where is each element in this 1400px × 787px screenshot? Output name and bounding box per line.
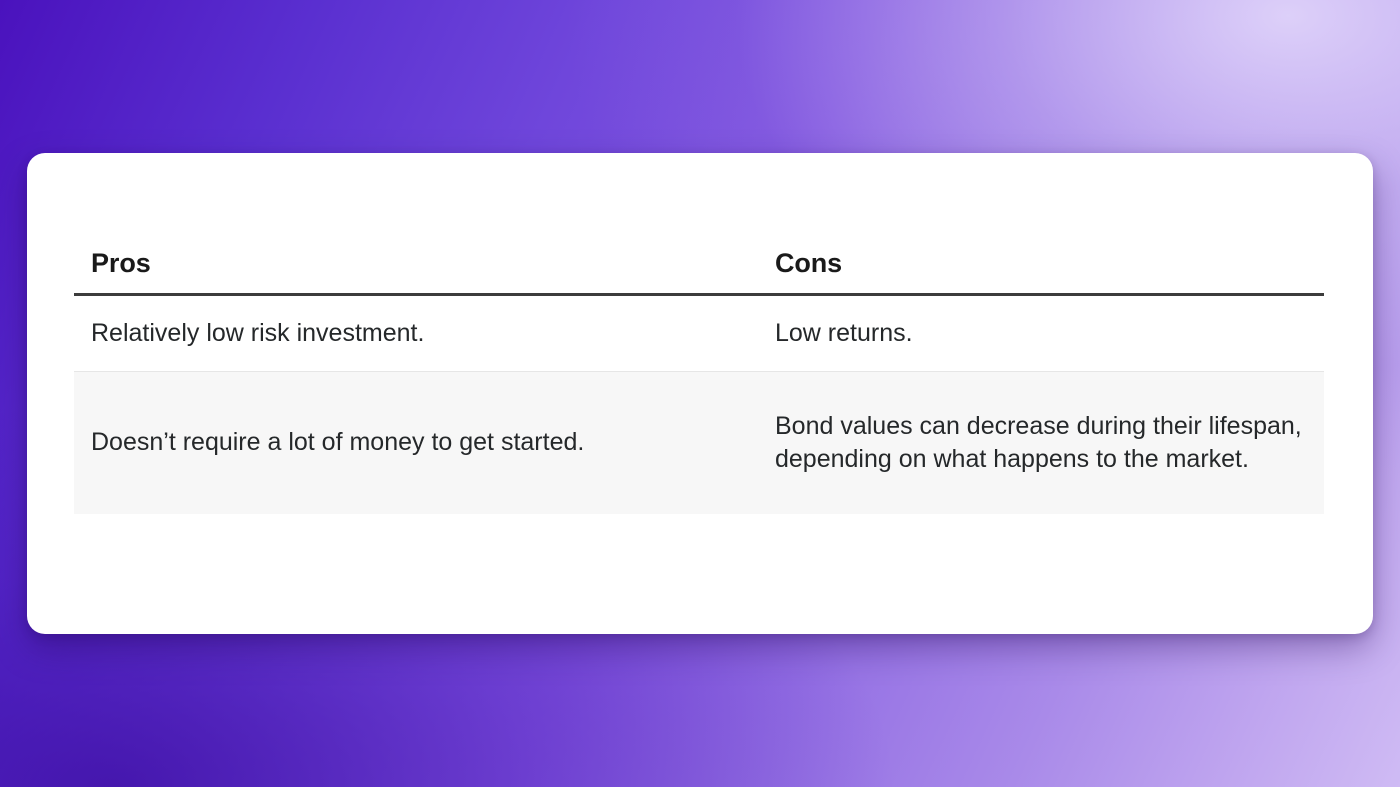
table-body: Relatively low risk investment. Low retu… (74, 294, 1324, 514)
table-row: Doesn’t require a lot of money to get st… (74, 371, 1324, 514)
column-header-pros-label: Pros (74, 248, 758, 279)
column-header-pros: Pros (74, 153, 758, 294)
table-container: Pros Cons Relatively low risk investment… (74, 153, 1324, 514)
cell-pros-2: Doesn’t require a lot of money to get st… (74, 371, 758, 514)
column-header-cons: Cons (758, 153, 1324, 294)
column-header-cons-label: Cons (758, 248, 1324, 279)
table-card: Pros Cons Relatively low risk investment… (27, 153, 1373, 634)
cell-pros-1: Relatively low risk investment. (74, 294, 758, 371)
cell-cons-1: Low returns. (758, 294, 1324, 371)
cell-cons-2: Bond values can decrease during their li… (758, 371, 1324, 514)
table-row: Relatively low risk investment. Low retu… (74, 294, 1324, 371)
pros-cons-table: Pros Cons Relatively low risk investment… (74, 153, 1324, 514)
table-header-row: Pros Cons (74, 153, 1324, 294)
table-header: Pros Cons (74, 153, 1324, 294)
